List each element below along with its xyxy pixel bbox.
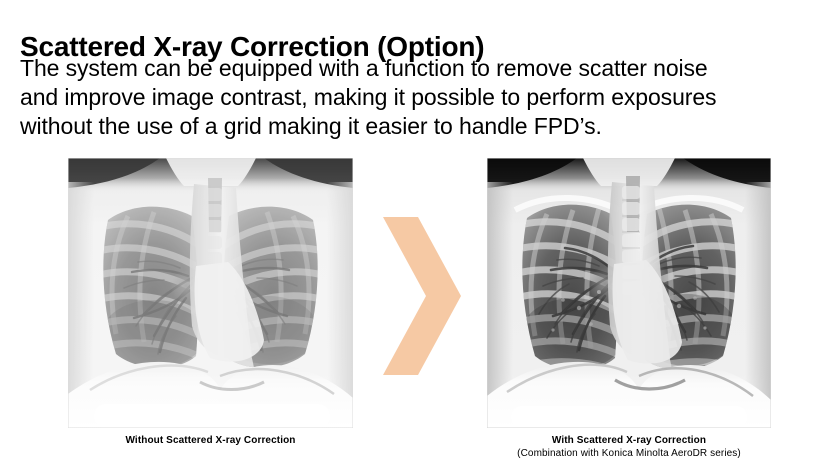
- chevron-right-arrow-icon: [380, 213, 464, 379]
- chest-xray-corrected-graphic: [487, 158, 771, 428]
- body-line-1: The system can be equipped with a functi…: [20, 54, 820, 83]
- caption-corrected-main: With Scattered X-ray Correction: [487, 434, 771, 447]
- caption-corrected-sub: (Combination with Konica Minolta AeroDR …: [487, 447, 771, 460]
- caption-corrected: With Scattered X-ray Correction (Combina…: [487, 434, 771, 460]
- xray-image-uncorrected: [68, 158, 353, 428]
- body-line-2: and improve image contrast, making it po…: [20, 83, 820, 112]
- chevron-right-arrow-shape: [380, 213, 464, 379]
- body-line-3: without the use of a grid making it easi…: [20, 112, 820, 141]
- xray-corrected-canvas: [487, 158, 771, 428]
- caption-uncorrected: Without Scattered X-ray Correction: [68, 434, 353, 447]
- slide-canvas: Scattered X-ray Correction (Option) The …: [0, 0, 840, 472]
- xray-uncorrected-canvas: [68, 158, 353, 428]
- slide-body-text: The system can be equipped with a functi…: [20, 54, 820, 141]
- chest-xray-uncorrected-graphic: [68, 158, 353, 428]
- caption-uncorrected-main: Without Scattered X-ray Correction: [68, 434, 353, 447]
- xray-image-corrected: [487, 158, 771, 428]
